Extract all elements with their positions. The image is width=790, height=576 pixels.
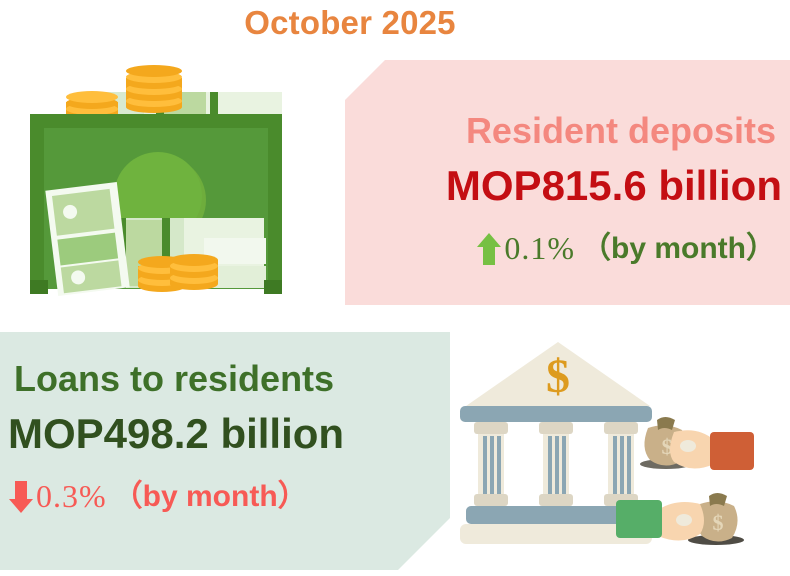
deposits-change: 0.1% （by month） (345, 232, 776, 266)
loans-value: MOP498.2 billion (8, 412, 450, 456)
arrow-up-icon (476, 232, 502, 266)
deposits-change-period: （by month） (581, 233, 776, 265)
svg-text:$: $ (713, 510, 724, 535)
deposits-value: MOP815.6 billion (345, 164, 782, 208)
panel-loans-to-residents: Loans to residents MOP498.2 billion 0.3%… (0, 332, 450, 570)
bank-building-icon: $ (452, 328, 782, 573)
loans-change: 0.3% （by month） (8, 480, 450, 514)
deposits-change-pct: 0.1% (504, 232, 575, 266)
loans-change-period: （by month） (113, 481, 308, 513)
loans-label: Loans to residents (14, 360, 450, 398)
arrow-down-icon (8, 480, 34, 514)
deposits-label: Resident deposits (345, 112, 776, 150)
svg-text:$: $ (546, 350, 570, 403)
loans-change-pct: 0.3% (36, 480, 107, 514)
panel-resident-deposits: Resident deposits MOP815.6 billion 0.1% … (345, 60, 790, 305)
infographic-canvas: October 2025 (0, 0, 790, 576)
money-stack-icon (14, 62, 334, 317)
page-title: October 2025 (0, 4, 700, 42)
